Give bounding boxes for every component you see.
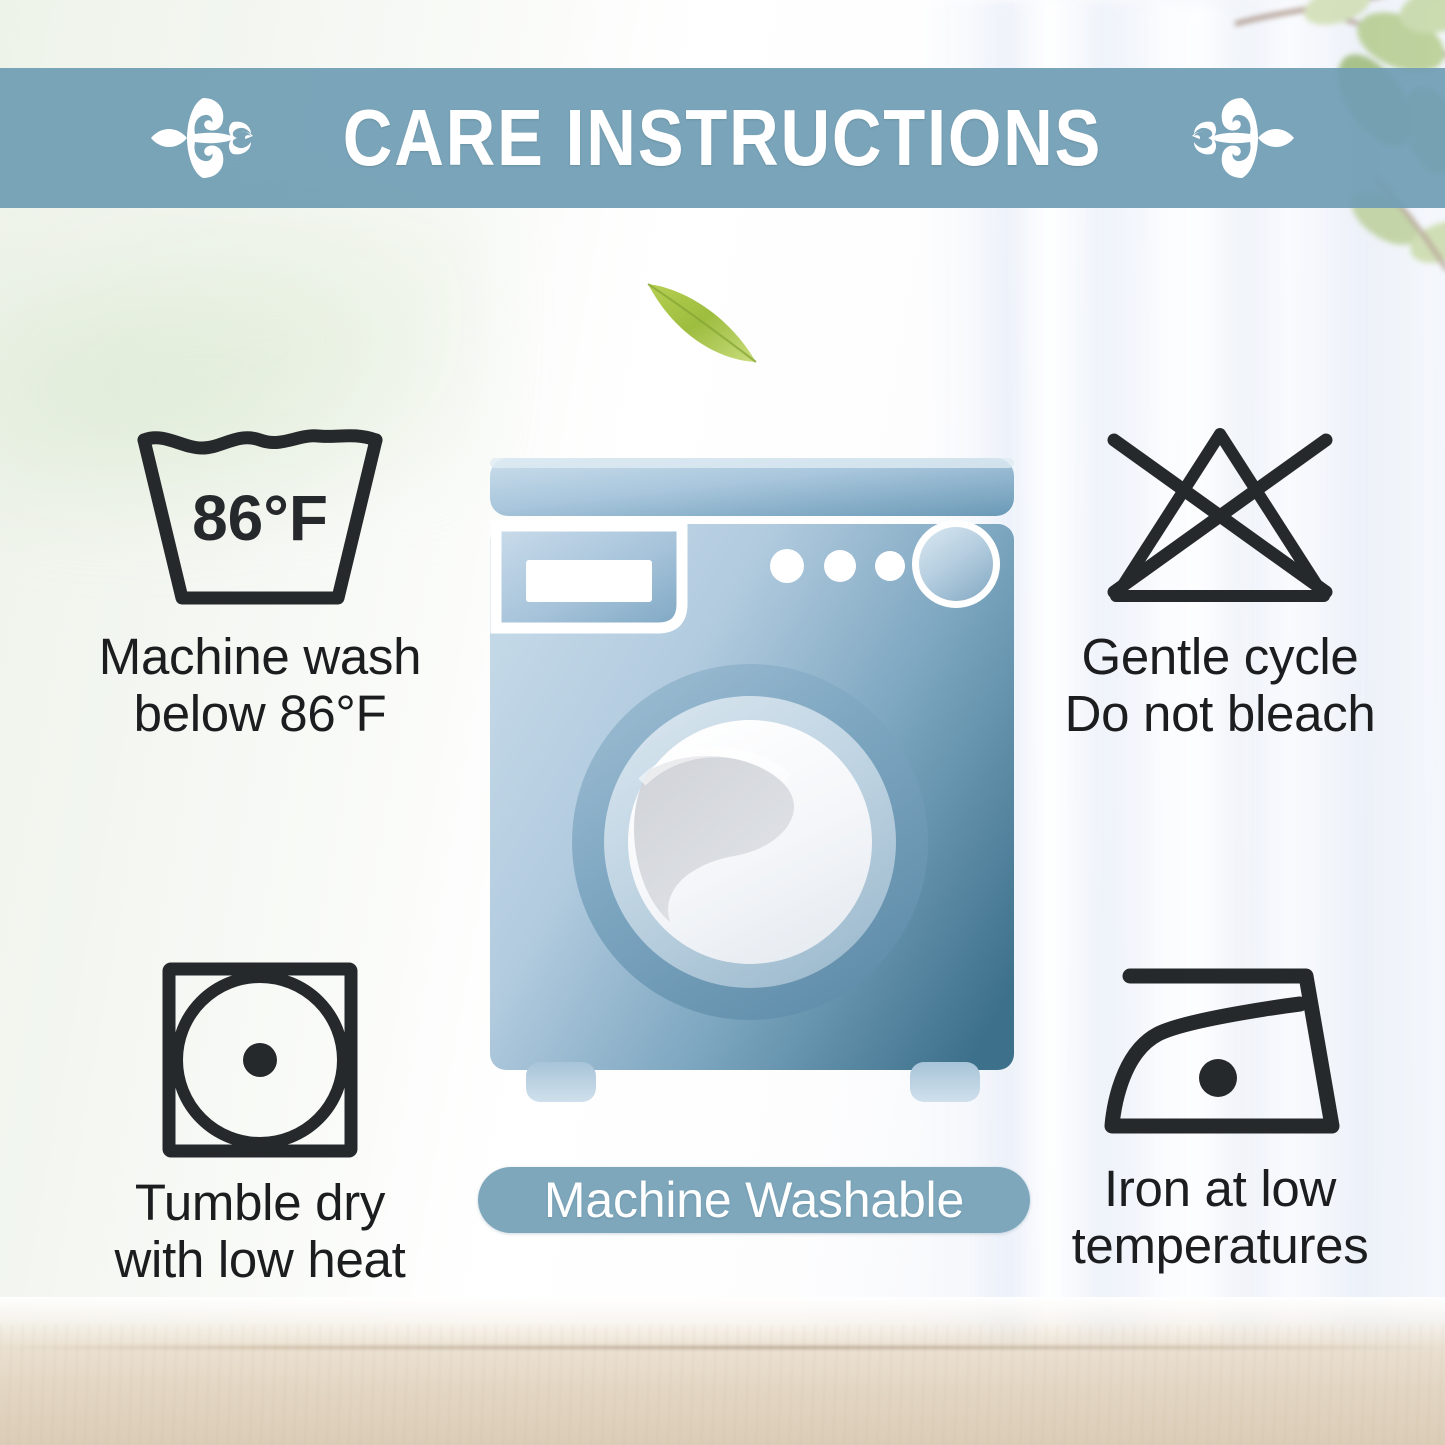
wash-tub-icon: 86°F (130, 418, 390, 614)
care-symbol-iron-low: Iron at low temperatures (1000, 960, 1440, 1274)
header-banner: CARE INSTRUCTIONS (0, 68, 1445, 208)
iron-low-icon (1094, 960, 1346, 1146)
indicator-light (875, 551, 905, 581)
care-caption: Iron at low temperatures (1072, 1160, 1369, 1274)
background-wood-grain (0, 1325, 1445, 1445)
control-knob[interactable] (919, 527, 993, 601)
tumble-dry-low-icon (160, 960, 360, 1160)
machine-washable-label: Machine Washable (544, 1175, 964, 1225)
machine-foot (526, 1062, 596, 1102)
fleur-de-lis-icon (147, 92, 255, 184)
care-symbol-do-not-bleach: Gentle cycle Do not bleach (1000, 418, 1440, 742)
care-symbol-tumble-dry-low: Tumble dry with low heat (40, 960, 480, 1288)
crossed-triangle-icon (1092, 418, 1348, 614)
wash-temperature-label: 86°F (192, 482, 328, 554)
page-title: CARE INSTRUCTIONS (343, 98, 1102, 178)
washing-machine-illustration (482, 452, 1022, 1152)
infographic-canvas: CARE INSTRUCTIONS 86°F Machine wash belo… (0, 0, 1445, 1445)
machine-foot (910, 1062, 980, 1102)
detergent-drawer-slot (526, 560, 652, 602)
machine-washable-badge: Machine Washable (478, 1167, 1030, 1233)
care-caption: Machine wash below 86°F (99, 628, 421, 742)
green-leaf-icon (636, 264, 766, 374)
indicator-light (824, 550, 856, 582)
care-caption: Gentle cycle Do not bleach (1065, 628, 1376, 742)
care-symbol-machine-wash: 86°F Machine wash below 86°F (40, 418, 480, 742)
background-wood-seam (0, 1346, 1445, 1349)
care-caption: Tumble dry with low heat (115, 1174, 406, 1288)
indicator-light (770, 549, 804, 583)
fleur-de-lis-icon (1190, 92, 1298, 184)
